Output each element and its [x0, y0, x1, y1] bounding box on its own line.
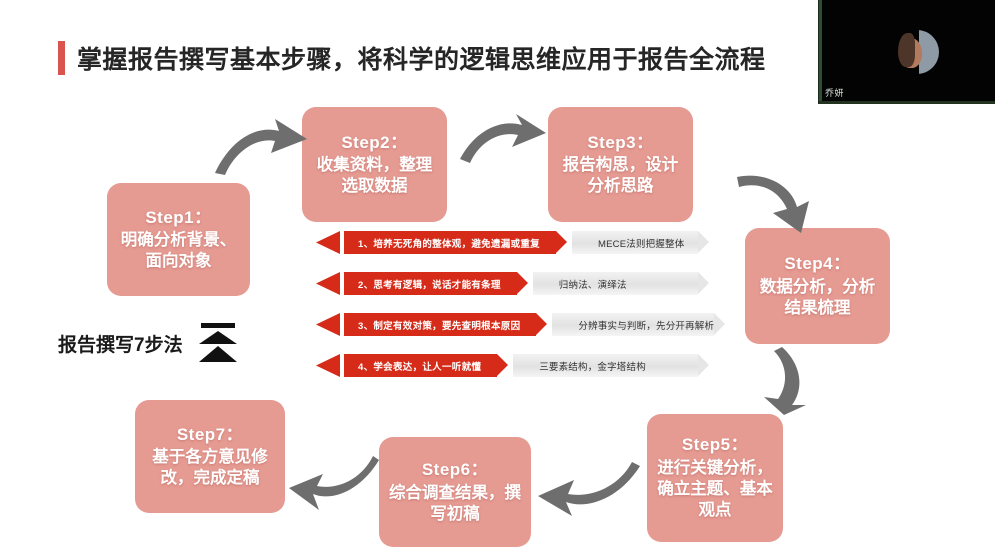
caret-left-icon	[316, 354, 341, 377]
step-box-5: Step5： 进行关键分析，确立主题、基本观点	[647, 414, 783, 542]
step-label-7: Step7：	[177, 424, 243, 446]
principles-list: 1、培养无死角的整体观，避免遗漏或重复 MECE法则把握整体 2、思考有逻辑，说…	[316, 231, 698, 377]
page-title: 掌握报告撰写基本步骤，将科学的逻辑思维应用于报告全流程	[58, 40, 766, 76]
step-box-2: Step2： 收集资料，整理选取数据	[302, 107, 447, 222]
principle-row: 2、思考有逻辑，说话才能有条理 归纳法、演绎法	[316, 272, 698, 295]
video-tile-edge	[819, 0, 822, 104]
principle-text-left: 3、制定有效对策，要先查明根本原因	[344, 313, 536, 336]
curved-arrow-right-icon	[458, 113, 548, 169]
principle-text-right: 归纳法、演绎法	[533, 272, 698, 295]
curved-arrow-down-icon	[758, 345, 820, 417]
step-box-4: Step4： 数据分析，分析结果梳理	[745, 228, 890, 344]
principle-text-right: 三要素结构，金字塔结构	[513, 354, 698, 377]
avatar-background	[919, 30, 939, 74]
principle-text-left: 4、学会表达，让人一听就懂	[344, 354, 497, 377]
curved-arrow-right-icon	[213, 117, 309, 179]
title-accent-bar	[58, 41, 65, 75]
step-desc-4: 数据分析，分析结果梳理	[753, 277, 882, 319]
step-desc-6: 综合调查结果，撰写初稿	[387, 483, 523, 525]
caret-left-icon	[316, 272, 341, 295]
caret-left-icon	[316, 313, 341, 336]
principle-row: 4、学会表达，让人一听就懂 三要素结构，金字塔结构	[316, 354, 698, 377]
double-triangle-up-icon	[197, 322, 239, 364]
caret-left-icon	[316, 231, 341, 254]
principle-text-left: 2、思考有逻辑，说话才能有条理	[344, 272, 517, 295]
step-label-3: Step3：	[587, 132, 653, 154]
avatar-hair	[898, 33, 915, 67]
step-desc-3: 报告构思，设计分析思路	[556, 155, 685, 197]
video-participant-tile[interactable]: 乔妍	[818, 0, 995, 104]
avatar	[895, 30, 939, 74]
principle-text-right: MECE法则把握整体	[572, 231, 698, 254]
step-label-2: Step2：	[341, 132, 407, 154]
curved-arrow-down-right-icon	[735, 163, 815, 233]
principle-text-left: 1、培养无死角的整体观，避免遗漏或重复	[344, 231, 556, 254]
step-desc-1: 明确分析背景、面向对象	[115, 230, 242, 272]
title-text: 掌握报告撰写基本步骤，将科学的逻辑思维应用于报告全流程	[77, 40, 766, 76]
step-label-1: Step1：	[145, 207, 211, 229]
step-box-7: Step7： 基于各方意见修改，完成定稿	[135, 400, 285, 513]
step-label-4: Step4：	[784, 253, 850, 275]
step-label-5: Step5：	[682, 434, 748, 456]
step-box-1: Step1： 明确分析背景、面向对象	[107, 183, 250, 296]
video-tile-bottom-strip	[819, 101, 995, 104]
principle-row: 3、制定有效对策，要先查明根本原因 分辨事实与判断，先分开再解析	[316, 313, 698, 336]
step-desc-5: 进行关键分析，确立主题、基本观点	[655, 458, 775, 521]
step-box-6: Step6： 综合调查结果，撰写初稿	[379, 437, 531, 547]
step-box-3: Step3： 报告构思，设计分析思路	[548, 107, 693, 222]
curved-arrow-left-icon	[536, 458, 642, 520]
slide-canvas: 掌握报告撰写基本步骤，将科学的逻辑思维应用于报告全流程 Step1： 明确分析背…	[0, 0, 995, 560]
step-desc-2: 收集资料，整理选取数据	[310, 155, 439, 197]
principle-text-right: 分辨事实与判断，先分开再解析	[552, 313, 714, 336]
curved-arrow-left-icon	[287, 452, 381, 514]
seven-step-label-group: 报告撰写7步法	[58, 322, 239, 364]
step-desc-7: 基于各方意见修改，完成定稿	[143, 447, 277, 489]
step-label-6: Step6：	[422, 459, 488, 481]
participant-name: 乔妍	[825, 86, 844, 99]
principle-row: 1、培养无死角的整体观，避免遗漏或重复 MECE法则把握整体	[316, 231, 698, 254]
seven-step-label: 报告撰写7步法	[58, 330, 183, 357]
